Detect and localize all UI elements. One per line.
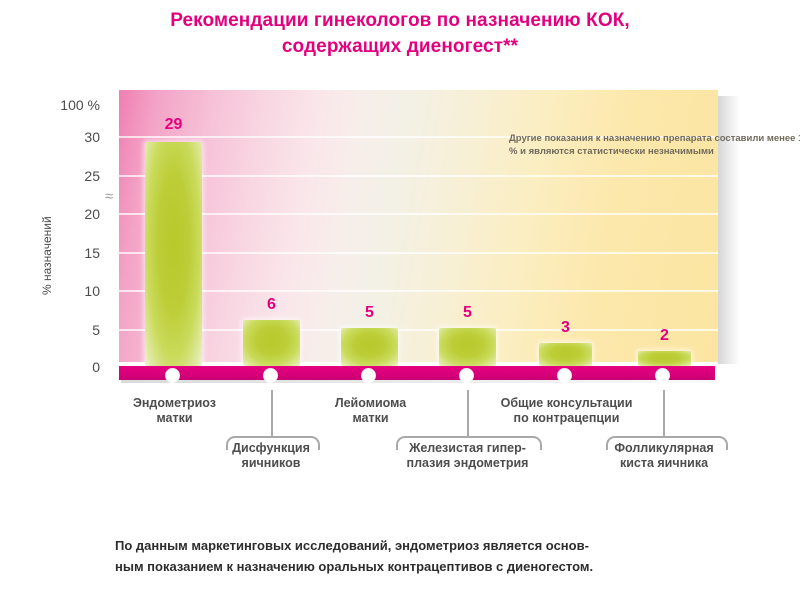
- gridline-5: [119, 329, 718, 331]
- gridline-15: [119, 252, 718, 254]
- bar-value-endometrial-hyperplasia: 5: [439, 304, 496, 322]
- category-label-leiomyoma-l2: матки: [308, 411, 433, 426]
- category-label-ovarian-dysfunction-l2: яичников: [211, 456, 331, 471]
- category-label-endometrial-hyperplasia-l1: Железистая гипер-: [385, 441, 550, 456]
- chart-annotation: Другие показания к назначению препарата …: [509, 132, 800, 158]
- ytick-30: 30: [40, 130, 100, 144]
- axis-marker-6[interactable]: [656, 369, 669, 382]
- bar-endometrial-hyperplasia[interactable]: [439, 328, 496, 366]
- page-title: Рекомендации гинекологов по назначению К…: [0, 8, 800, 60]
- bar-value-follicular-cyst: 2: [638, 327, 691, 345]
- category-label-follicular-cyst-l1: Фолликулярная: [594, 441, 734, 456]
- category-label-endometrial-hyperplasia-l2: плазия эндометрия: [385, 456, 550, 471]
- gridline-20: [119, 213, 718, 215]
- bar-endometriosis[interactable]: [145, 142, 202, 366]
- gridline-10: [119, 290, 718, 292]
- axis-marker-2[interactable]: [264, 369, 277, 382]
- bar-ovarian-dysfunction[interactable]: [243, 320, 300, 366]
- page-title-line2: содержащих диеногест**: [0, 34, 800, 60]
- category-label-endometriosis: Эндометриоз матки: [112, 396, 237, 426]
- footer-line1: По данным маркетинговых исследований, эн…: [115, 535, 695, 556]
- category-label-endometriosis-l2: матки: [112, 411, 237, 426]
- ytick-100: 100 %: [40, 98, 100, 112]
- category-label-ovarian-dysfunction: Дисфункция яичников: [211, 441, 331, 471]
- category-label-endometrial-hyperplasia: Железистая гипер- плазия эндометрия: [385, 441, 550, 471]
- slide-root: Рекомендации гинекологов по назначению К…: [0, 0, 800, 600]
- category-label-contraception-consults: Общие консультации по контрацепции: [484, 396, 649, 426]
- axis-break-icon: ≈: [105, 189, 127, 205]
- footer-text: По данным маркетинговых исследований, эн…: [115, 535, 695, 577]
- bar-value-leiomyoma: 5: [341, 304, 398, 322]
- bar-value-endometriosis: 29: [145, 116, 202, 134]
- category-label-contraception-consults-l1: Общие консультации: [484, 396, 649, 411]
- bar-value-ovarian-dysfunction: 6: [243, 296, 300, 314]
- ytick-5: 5: [40, 323, 100, 337]
- plot-shadow: [718, 96, 740, 364]
- plot-area: Другие показания к назначению препарата …: [119, 90, 718, 362]
- axis-marker-1[interactable]: [166, 369, 179, 382]
- page-title-line1: Рекомендации гинекологов по назначению К…: [0, 8, 800, 34]
- bar-value-contraception-consults: 3: [539, 319, 592, 337]
- bar-leiomyoma[interactable]: [341, 328, 398, 366]
- category-label-leiomyoma: Лейомиома матки: [308, 396, 433, 426]
- category-label-follicular-cyst-l2: киста яичника: [594, 456, 734, 471]
- footer-line2: ным показанием к назначению оральных кон…: [115, 556, 695, 577]
- axis-marker-5[interactable]: [558, 369, 571, 382]
- leader-line-endometrial-hyperplasia: [467, 390, 469, 436]
- category-label-ovarian-dysfunction-l1: Дисфункция: [211, 441, 331, 456]
- leader-line-ovarian-dysfunction: [271, 390, 273, 436]
- bar-chart: Другие показания к назначению препарата …: [0, 90, 800, 390]
- y-axis-title: % назначений: [40, 216, 54, 295]
- axis-marker-4[interactable]: [460, 369, 473, 382]
- gridline-25: [119, 175, 718, 177]
- axis-marker-3[interactable]: [362, 369, 375, 382]
- category-label-endometriosis-l1: Эндометриоз: [112, 396, 237, 411]
- category-label-follicular-cyst: Фолликулярная киста яичника: [594, 441, 734, 471]
- category-label-leiomyoma-l1: Лейомиома: [308, 396, 433, 411]
- ytick-25: 25: [40, 169, 100, 183]
- category-label-contraception-consults-l2: по контрацепции: [484, 411, 649, 426]
- x-axis-bar: [119, 366, 715, 380]
- bar-contraception-consults[interactable]: [539, 343, 592, 366]
- bar-follicular-cyst[interactable]: [638, 351, 691, 366]
- ytick-0: 0: [40, 360, 100, 374]
- leader-line-follicular-cyst: [663, 390, 665, 436]
